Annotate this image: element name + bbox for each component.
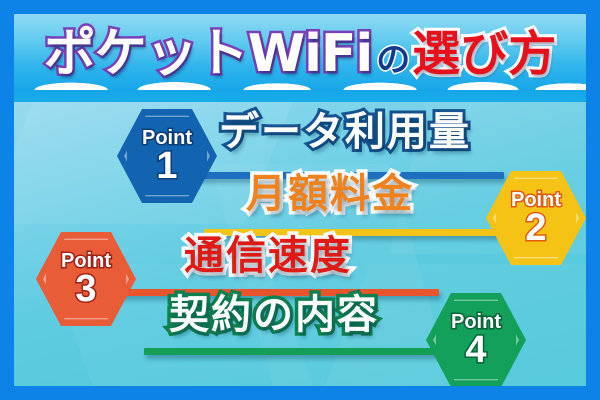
point-item-text-2: 月額料金 bbox=[246, 174, 414, 214]
point-badge-number-1: 1 bbox=[156, 147, 177, 185]
point-badge-number-2: 2 bbox=[525, 209, 546, 247]
title-part-particle: の bbox=[376, 43, 410, 77]
promo-banner: ポケットWiFi の 選び方 Point 1 Point 2 Point 3 P… bbox=[0, 0, 600, 400]
banner-title: ポケットWiFi の 選び方 bbox=[14, 14, 586, 94]
banner-panel: ポケットWiFi の 選び方 Point 1 Point 2 Point 3 P… bbox=[14, 14, 586, 386]
point-item-text-4: 契約の内容 bbox=[169, 295, 379, 335]
point-badge-number-4: 4 bbox=[465, 331, 486, 369]
title-part-accent: 選び方 bbox=[412, 30, 556, 78]
point-item-text-3: 通信速度 bbox=[184, 236, 352, 276]
point-badge-number-3: 3 bbox=[75, 270, 96, 308]
title-part-primary: ポケットWiFi bbox=[44, 28, 373, 80]
point-item-text-1: データ利用量 bbox=[219, 112, 471, 152]
connector-line-4 bbox=[144, 348, 474, 355]
